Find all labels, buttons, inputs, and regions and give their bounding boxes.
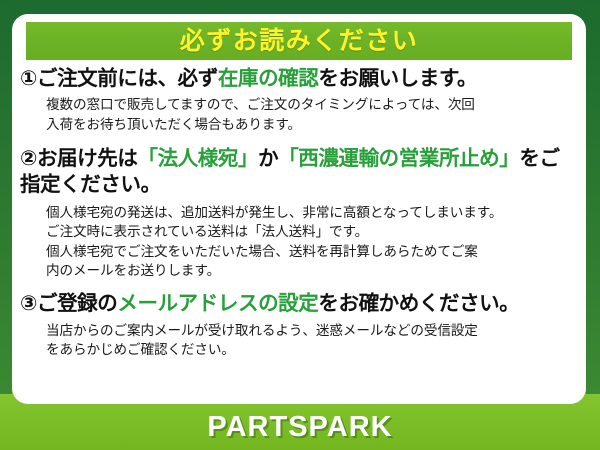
notice-item-1-heading: ①ご注文前には、必ず在庫の確認をお願いします。 xyxy=(20,66,576,92)
notice-item-1-body: 複数の窓口で販売してますので、ご注文のタイミングによっては、次回 入荷をお待ち頂… xyxy=(20,95,576,134)
footer: PARTSPARK xyxy=(0,404,600,450)
notice-item-3: ③ご登録のメールアドレスの設定をお確かめください。 当店からのご案内メールが受け… xyxy=(20,291,576,359)
brand-logo: PARTSPARK xyxy=(207,413,392,442)
page-title: 必ずお読みください xyxy=(180,29,419,54)
notice-item-1: ①ご注文前には、必ず在庫の確認をお願いします。 複数の窓口で販売してますので、ご… xyxy=(20,66,576,134)
notice-item-1-heading-pre: ご注文前には、必ず xyxy=(37,67,218,90)
content-panel: 必ずお読みください ①ご注文前には、必ず在庫の確認をお願いします。 複数の窓口で… xyxy=(12,14,586,404)
notice-item-3-heading: ③ご登録のメールアドレスの設定をお確かめください。 xyxy=(20,291,576,317)
notice-item-2-heading-highlight: 「法人様宛」 xyxy=(137,147,258,170)
frame-left-border xyxy=(0,0,12,410)
notice-item-2-body: 個人様宅宛の発送は、追加送料が発生し、非常に高額となってしまいます。 ご注文時に… xyxy=(20,203,576,280)
notice-item-2-heading-mid: か xyxy=(258,147,278,170)
notice-item-2-heading: ②お届け先は「法人様宛」か「西濃運輸の営業所止め」をご指定ください。 xyxy=(20,146,576,199)
notice-item-2: ②お届け先は「法人様宛」か「西濃運輸の営業所止め」をご指定ください。 個人様宅宛… xyxy=(20,146,576,280)
notice-item-3-body: 当店からのご案内メールが受け取れるよう、迷惑メールなどの受信設定 をあらかじめご… xyxy=(20,321,576,360)
notice-item-1-heading-highlight: 在庫の確認 xyxy=(218,67,319,90)
notice-item-2-heading-pre: お届け先は xyxy=(37,147,138,170)
notice-item-1-heading-post: をお願いします。 xyxy=(318,67,477,90)
notice-banner: 必ずお読みください ①ご注文前には、必ず在庫の確認をお願いします。 複数の窓口で… xyxy=(0,0,600,450)
notice-item-3-heading-pre: ご登録の xyxy=(37,292,117,315)
notice-item-2-heading-highlight-2: 「西濃運輸の営業所止め」 xyxy=(278,147,519,170)
header-bar: 必ずお読みください xyxy=(26,22,572,60)
notice-item-2-number: ② xyxy=(20,147,37,170)
notice-item-3-number: ③ xyxy=(20,292,37,315)
notice-item-3-heading-highlight: メールアドレスの設定 xyxy=(117,292,318,315)
notice-item-3-heading-post: をお確かめください。 xyxy=(318,292,519,315)
notice-item-1-number: ① xyxy=(20,67,37,90)
frame-right-border xyxy=(586,0,600,408)
notice-list: ①ご注文前には、必ず在庫の確認をお願いします。 複数の窓口で販売してますので、ご… xyxy=(12,66,586,361)
